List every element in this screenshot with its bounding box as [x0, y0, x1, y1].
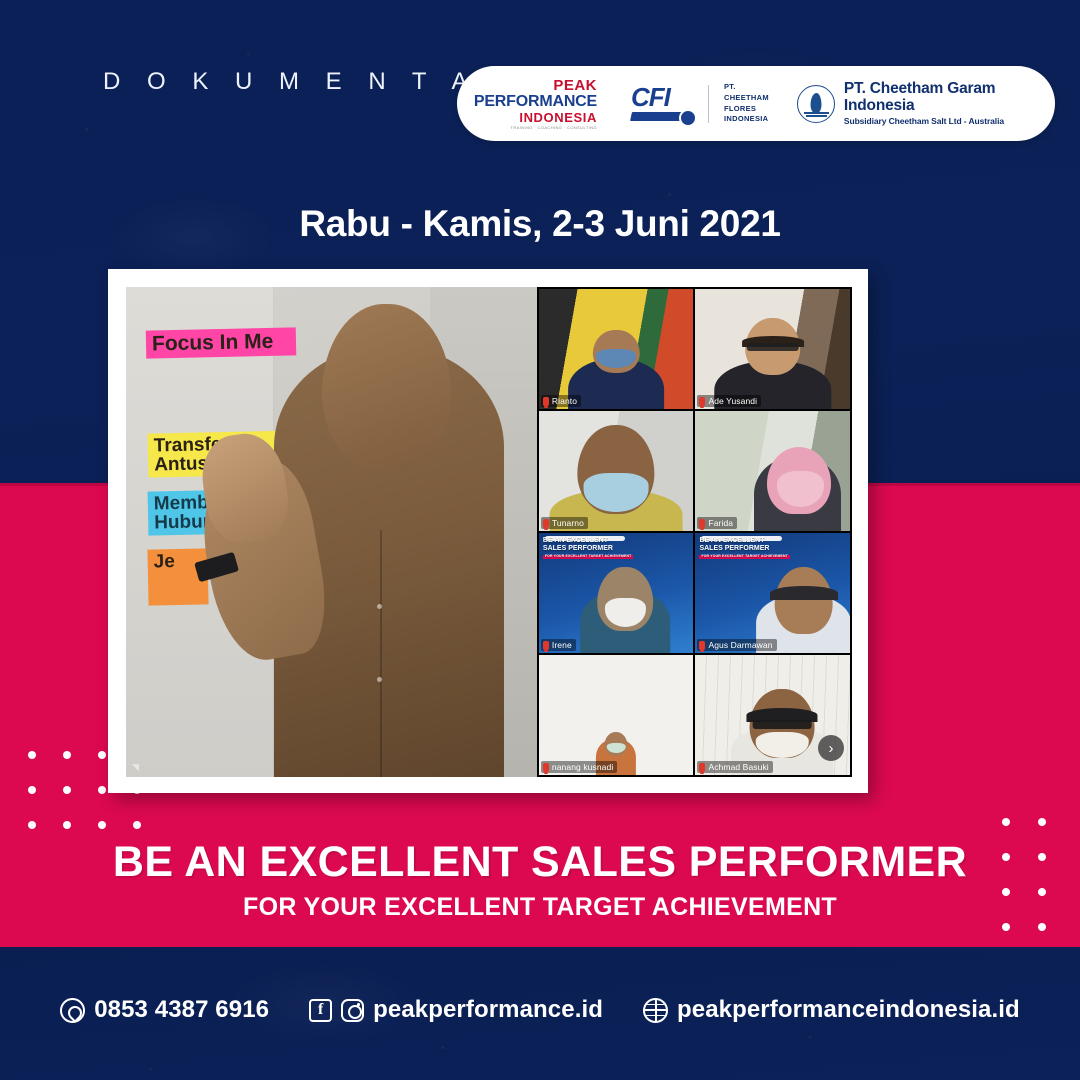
resize-grip-icon[interactable]: ◥: [132, 763, 139, 772]
participant-name: Farida: [708, 518, 733, 528]
logo-cheetham-garam: PT. Cheetham Garam Indonesia Subsidiary …: [797, 81, 1055, 126]
participant-name: Rianto: [552, 396, 577, 406]
logo-peak-line1: PEAK: [553, 78, 597, 93]
mic-icon: [543, 397, 549, 406]
mic-icon: [543, 763, 549, 772]
participant-tile[interactable]: BE AN EXCELLENT SALES PERFORMER FOR YOUR…: [539, 533, 694, 653]
participant-nameplate: Tunarno: [541, 517, 588, 529]
participant-nameplate: nanang kusnadi: [541, 761, 617, 773]
mic-icon: [543, 641, 549, 650]
participant-nameplate: Achmad Basuki: [697, 761, 772, 773]
participant-gallery: Rianto Ade Yusandi: [537, 287, 852, 777]
mic-icon: [699, 519, 705, 528]
participant-tile[interactable]: BE AN EXCELLENT SALES PERFORMER FOR YOUR…: [695, 533, 850, 653]
participant-tile[interactable]: Tunarno: [539, 411, 694, 531]
banner-main-title: BE AN EXCELLENT SALES PERFORMER: [0, 838, 1080, 887]
chevron-right-icon[interactable]: ›: [818, 735, 844, 761]
footer-social[interactable]: f peakperformance.id: [309, 996, 603, 1024]
screenshot-zoom-meeting: Focus In Me Transfer Antusiasme Membangu…: [126, 287, 852, 777]
sponsor-logo-bar: PEAK PERFORMANCE INDONESIA TRAINING · CO…: [457, 66, 1055, 141]
participant-name: Ade Yusandi: [708, 396, 757, 406]
logo-divider: [708, 85, 709, 123]
participant-name: Achmad Basuki: [708, 762, 768, 772]
cfi-wordmark: CFI: [631, 84, 693, 110]
logo-peak-performance: PEAK PERFORMANCE INDONESIA TRAINING · CO…: [475, 78, 597, 130]
logo-peak-line2: PERFORMANCE: [474, 94, 597, 110]
participant-nameplate: Rianto: [541, 395, 581, 407]
logo-peak-line3: INDONESIA: [519, 111, 597, 124]
cheetham-seal-icon: [797, 85, 835, 123]
logo-cfi: CFI PT. CHEETHAM FLORES INDONESIA: [631, 82, 769, 126]
cheetham-title: PT. Cheetham Garam Indonesia: [844, 81, 1055, 114]
mic-icon: [543, 519, 549, 528]
footer-website-url: peakperformanceindonesia.id: [677, 996, 1020, 1024]
participant-nameplate: Ade Yusandi: [697, 395, 761, 407]
participant-name: Irene: [552, 640, 572, 650]
participant-tile[interactable]: Ade Yusandi: [695, 289, 850, 409]
whatsapp-icon: [60, 998, 85, 1023]
virtual-background-text: BE AN EXCELLENT SALES PERFORMER FOR YOUR…: [543, 537, 660, 560]
participant-name: Tunarno: [552, 518, 584, 528]
banner-sub-title: FOR YOUR EXCELLENT TARGET ACHIEVEMENT: [0, 893, 1080, 922]
globe-icon: [643, 998, 668, 1023]
event-date-headline: Rabu - Kamis, 2-3 Juni 2021: [0, 203, 1080, 245]
mic-icon: [699, 641, 705, 650]
cfi-globe-icon: [679, 109, 697, 127]
participant-tile[interactable]: Rianto: [539, 289, 694, 409]
participant-name: nanang kusnadi: [552, 762, 613, 772]
participant-nameplate: Irene: [541, 639, 576, 651]
mic-icon: [699, 397, 705, 406]
facebook-icon[interactable]: f: [309, 999, 332, 1022]
footer-social-handle: peakperformance.id: [373, 996, 603, 1024]
presenter-video-pane: Focus In Me Transfer Antusiasme Membangu…: [126, 287, 537, 777]
participant-nameplate: Farida: [697, 517, 737, 529]
instagram-icon[interactable]: [341, 999, 364, 1022]
cfi-mark: CFI: [631, 84, 693, 124]
mic-icon: [699, 763, 705, 772]
flipchart-note-1: Focus In Me: [146, 327, 297, 358]
footer-contact-bar: 0853 4387 6916 f peakperformance.id peak…: [0, 985, 1080, 1035]
footer-phone-number: 0853 4387 6916: [94, 996, 269, 1024]
footer-website[interactable]: peakperformanceindonesia.id: [643, 996, 1020, 1024]
participant-tile[interactable]: nanang kusnadi: [539, 655, 694, 775]
cfi-subtitle: PT. CHEETHAM FLORES INDONESIA: [724, 82, 769, 126]
participant-tile[interactable]: Farida: [695, 411, 850, 531]
photo-frame: Focus In Me Transfer Antusiasme Membangu…: [108, 269, 868, 793]
cheetham-subtitle: Subsidiary Cheetham Salt Ltd - Australia: [844, 116, 1055, 126]
participant-nameplate: Agus Darmawan: [697, 639, 776, 651]
footer-whatsapp[interactable]: 0853 4387 6916: [60, 996, 269, 1024]
participant-name: Agus Darmawan: [708, 640, 772, 650]
virtual-background-text: BE AN EXCELLENT SALES PERFORMER FOR YOUR…: [699, 537, 816, 560]
logo-peak-tagline: TRAINING · COACHING · CONSULTING: [510, 126, 597, 130]
